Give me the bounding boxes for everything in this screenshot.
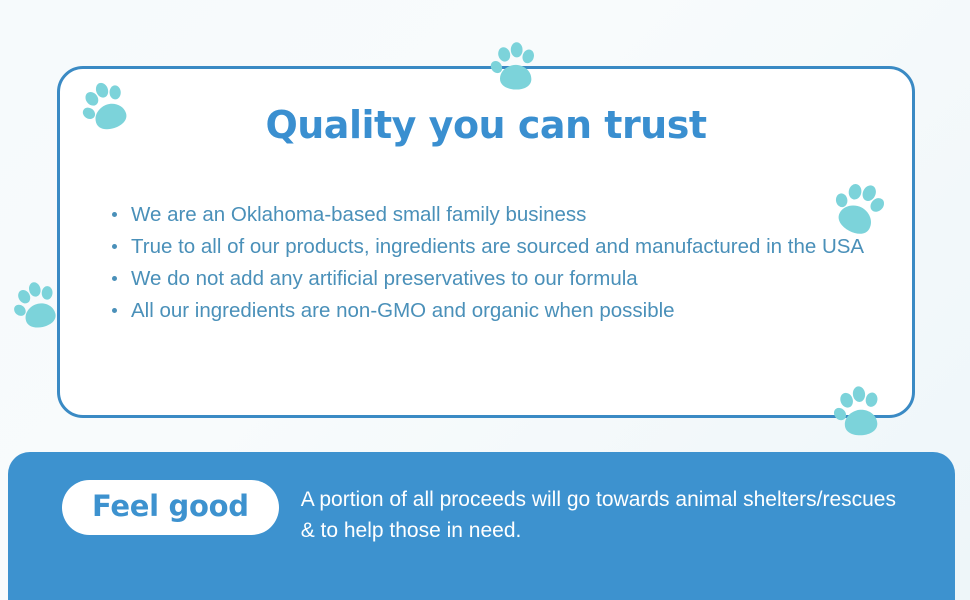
paw-print-icon [486, 37, 544, 95]
list-item: We are an Oklahoma-based small family bu… [108, 199, 882, 230]
feel-good-banner: Feel good A portion of all proceeds will… [8, 452, 955, 600]
promo-graphic: Quality you can trust We are an Oklahoma… [0, 0, 970, 600]
banner-message: A portion of all proceeds will go toward… [301, 480, 901, 546]
list-item: All our ingredients are non-GMO and orga… [108, 295, 882, 326]
feel-good-badge: Feel good [62, 480, 279, 535]
page-title: Quality you can trust [60, 103, 912, 147]
trust-bullet-list: We are an Oklahoma-based small family bu… [108, 199, 882, 327]
banner-content: Feel good A portion of all proceeds will… [62, 480, 925, 546]
bullet-dot-icon [112, 308, 117, 313]
list-item-text: All our ingredients are non-GMO and orga… [131, 299, 675, 322]
list-item-text: True to all of our products, ingredients… [131, 235, 864, 258]
bullet-dot-icon [112, 276, 117, 281]
paw-print-icon [828, 380, 890, 442]
bullet-dot-icon [112, 244, 117, 249]
bullet-dot-icon [112, 212, 117, 217]
list-item-text: We are an Oklahoma-based small family bu… [131, 203, 586, 226]
list-item: We do not add any artificial preservativ… [108, 263, 882, 294]
list-item: True to all of our products, ingredients… [108, 231, 882, 262]
quality-trust-card: Quality you can trust We are an Oklahoma… [57, 66, 915, 418]
paw-print-icon [5, 273, 69, 337]
list-item-text: We do not add any artificial preservativ… [131, 267, 638, 290]
